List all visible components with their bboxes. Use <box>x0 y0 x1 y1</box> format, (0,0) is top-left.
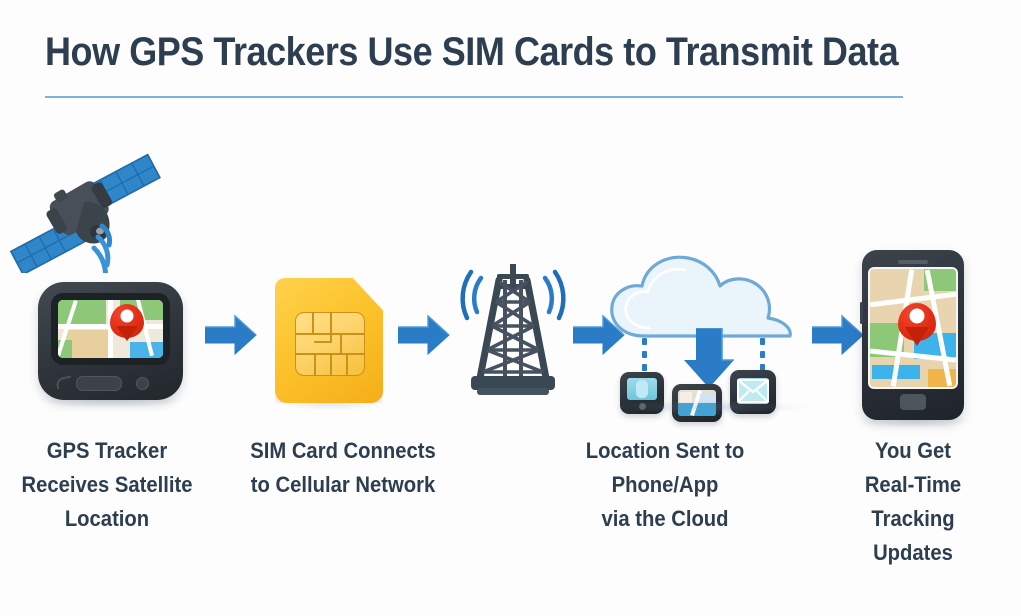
chip-contact-line <box>330 353 332 375</box>
chip-contact-line <box>314 341 332 343</box>
tracker-main-button <box>76 376 122 391</box>
cloud-connector-left <box>642 338 647 372</box>
step-3-caption: Location Sent to Phone/App via the Cloud <box>532 434 799 536</box>
step-4-caption-line-3: Tracking Updates <box>829 502 996 570</box>
map-pin-icon <box>110 304 144 338</box>
tablet-screen <box>627 378 657 400</box>
phone-home-button <box>900 394 926 410</box>
tracker-back-button <box>55 375 73 389</box>
step-2-caption-line-1: SIM Card Connects <box>246 434 439 468</box>
step-2-caption: SIM Card Connects to Cellular Network <box>246 434 439 502</box>
smartphone-icon <box>862 250 964 420</box>
step-1-caption: GPS Tracker Receives Satellite Location <box>15 434 199 536</box>
step-4-caption-line-2: Real-Time <box>829 468 996 502</box>
infographic-canvas: How GPS Trackers Use SIM Cards to Transm… <box>0 0 1021 616</box>
step-1-caption-line-2: Receives Satellite <box>15 468 199 502</box>
gps-tracker-device-icon <box>38 282 183 400</box>
chip-contact-line <box>346 353 348 375</box>
title-divider-rule <box>45 96 903 98</box>
chip-contact-line <box>340 333 342 355</box>
satellite-icon <box>6 148 171 273</box>
cloud-devices-shadow <box>612 400 808 414</box>
step-4-caption: You Get Real-Time Tracking Updates <box>829 434 996 570</box>
phone-side-button <box>860 302 863 324</box>
sim-chip <box>295 312 365 376</box>
arrow-step-4-to-5 <box>812 313 864 362</box>
cloud-group <box>604 248 814 408</box>
download-arrow-icon <box>682 328 736 390</box>
step-1-caption-line-1: GPS Tracker <box>15 434 199 468</box>
map-pin-icon <box>898 303 936 341</box>
cell-tower-icon <box>447 250 579 402</box>
arrow-step-1-to-2 <box>205 313 257 362</box>
sim-card-icon <box>275 278 383 403</box>
cloud-connector-right <box>760 338 765 372</box>
page-title: How GPS Trackers Use SIM Cards to Transm… <box>45 30 855 75</box>
step-2-caption-line-2: to Cellular Network <box>246 468 439 502</box>
step-3-caption-line-2: via the Cloud <box>532 502 799 536</box>
tracker-bezel <box>51 293 170 365</box>
arrow-step-2-to-3 <box>398 313 450 362</box>
tracker-map-screen <box>58 300 163 358</box>
tracker-round-button <box>136 377 149 390</box>
step-1-caption-line-3: Location <box>15 502 199 536</box>
step-4-caption-line-1: You Get <box>829 434 996 468</box>
chip-contact-line <box>312 313 314 334</box>
chip-contact-line <box>330 313 332 343</box>
chip-contact-line <box>314 353 316 375</box>
phone-map-screen <box>870 269 956 387</box>
map-tan-block <box>66 330 110 358</box>
map-green-block <box>58 300 106 326</box>
phone-speaker <box>898 260 928 264</box>
step-3-caption-line-1: Location Sent to Phone/App <box>532 434 799 502</box>
